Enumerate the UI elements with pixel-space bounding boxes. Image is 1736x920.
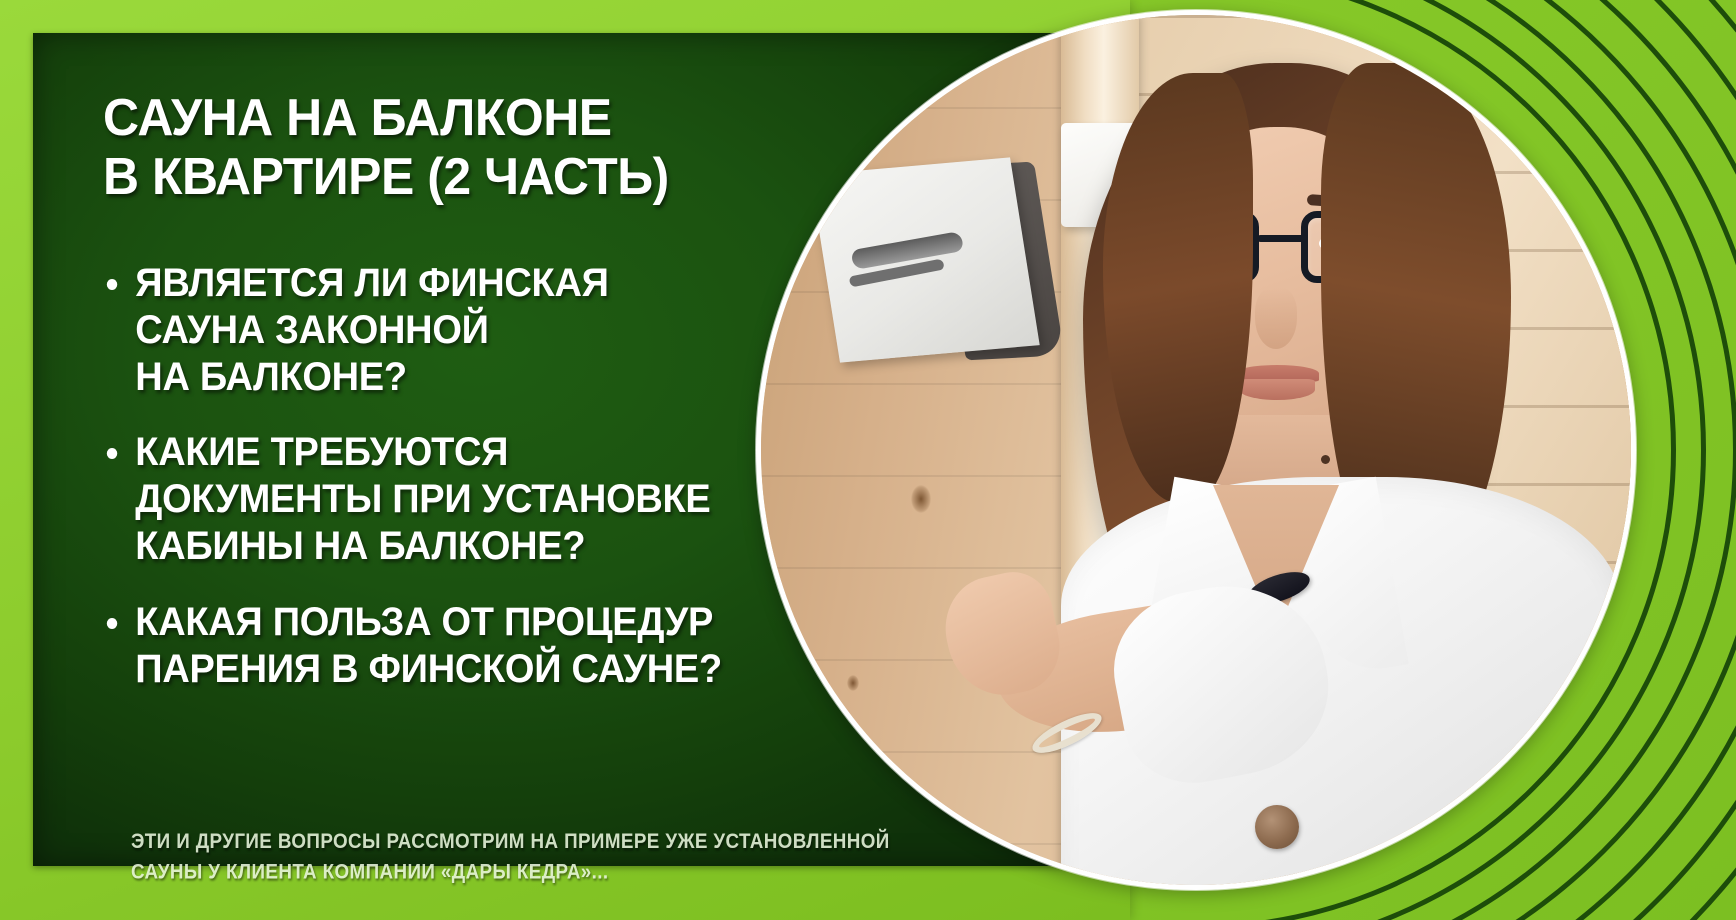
blouse-button-lower xyxy=(1255,805,1299,849)
poster-canvas: САУНА НА БАЛКОНЕ В КВАРТИРЕ (2 ЧАСТЬ) ЯВ… xyxy=(0,0,1736,920)
person-portrait xyxy=(761,15,1631,885)
circular-photo xyxy=(756,10,1636,890)
lower-lip xyxy=(1239,379,1315,400)
glasses-bridge xyxy=(1257,235,1307,242)
photo-image xyxy=(761,15,1631,885)
nose xyxy=(1255,287,1297,349)
mole xyxy=(1321,455,1330,464)
